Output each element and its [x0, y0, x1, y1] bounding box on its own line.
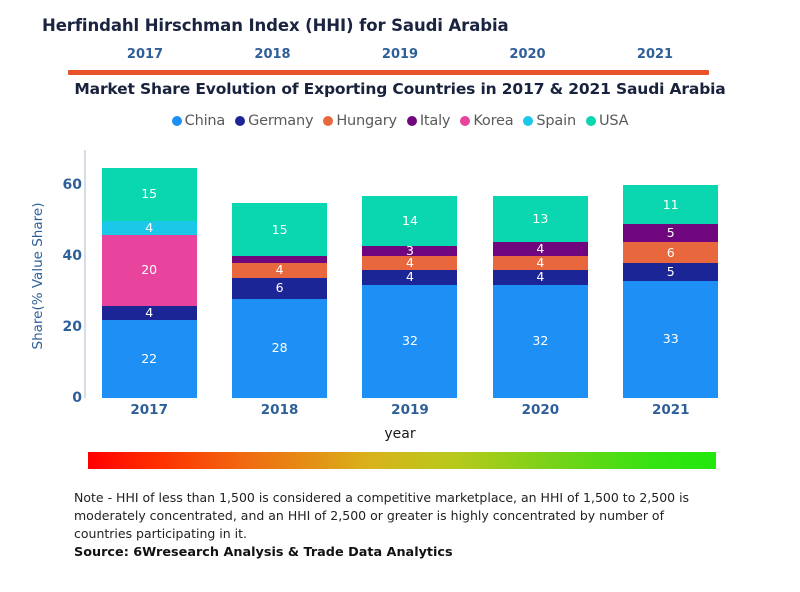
y-axis-tick-label: 20: [63, 319, 82, 335]
bar-segment[interactable]: 32: [362, 285, 457, 398]
legend-swatch-icon: [586, 116, 596, 126]
chart-legend: ChinaGermanyHungaryItalyKoreaSpainUSA: [0, 113, 800, 129]
bar-segment[interactable]: 4: [493, 242, 588, 256]
bar-column[interactable]: 154628: [232, 150, 327, 398]
footnote: Note - HHI of less than 1,500 is conside…: [74, 489, 726, 543]
legend-item-china[interactable]: China: [172, 113, 225, 129]
bar-column[interactable]: 15420422: [102, 150, 197, 398]
bar-segment-value: 4: [145, 222, 153, 235]
legend-item-spain[interactable]: Spain: [523, 113, 576, 129]
legend-item-label: Spain: [536, 113, 576, 129]
bar-segment-value: 32: [532, 335, 548, 348]
x-axis-tick-label: 2020: [493, 402, 588, 424]
plot-area: Share(% Value Share) 0204060 15420422154…: [0, 150, 800, 445]
bar-segment[interactable]: 6: [623, 242, 718, 263]
y-axis-tick-label: 0: [72, 390, 82, 406]
bar-segment-value: 6: [667, 247, 675, 260]
bar-segment-value: 33: [663, 333, 679, 346]
x-axis-tick-label: 2021: [623, 402, 718, 424]
orange-divider: [68, 70, 709, 75]
bar-segment[interactable]: 4: [493, 256, 588, 270]
bar-column[interactable]: 1156533: [623, 150, 718, 398]
concentration-gradient-bar: [88, 452, 716, 469]
bar-segment-value: 14: [402, 215, 418, 228]
bar-column[interactable]: 1434432: [362, 150, 457, 398]
bar-segment[interactable]: [232, 256, 327, 263]
bar-segment-value: 15: [272, 224, 288, 237]
bar-segment[interactable]: 22: [102, 320, 197, 398]
legend-item-label: China: [185, 113, 225, 129]
bar-segment[interactable]: 5: [623, 263, 718, 281]
bar-segment[interactable]: 4: [362, 256, 457, 270]
bar-segment[interactable]: 33: [623, 281, 718, 398]
bar-segment-value: 4: [145, 307, 153, 320]
bar-segment[interactable]: 15: [232, 203, 327, 256]
legend-swatch-icon: [235, 116, 245, 126]
bar-segment-value: 5: [667, 227, 675, 240]
legend-item-label: USA: [599, 113, 628, 129]
legend-item-germany[interactable]: Germany: [235, 113, 313, 129]
legend-item-hungary[interactable]: Hungary: [323, 113, 397, 129]
bar-segment[interactable]: 5: [623, 224, 718, 242]
chart-page: Herfindahl Hirschman Index (HHI) for Sau…: [0, 0, 800, 592]
source-line: Source: 6Wresearch Analysis & Trade Data…: [74, 545, 726, 560]
bar-segment-value: 4: [276, 264, 284, 277]
legend-item-korea[interactable]: Korea: [460, 113, 513, 129]
bar-segment[interactable]: 4: [102, 221, 197, 235]
bar-segment-value: 6: [276, 282, 284, 295]
legend-swatch-icon: [407, 116, 417, 126]
bar-segment[interactable]: 15: [102, 168, 197, 221]
legend-item-label: Korea: [473, 113, 513, 129]
timeline-year: 2017: [90, 47, 200, 62]
timeline-year: 2018: [218, 47, 328, 62]
y-axis-ticks: 0204060: [40, 150, 82, 398]
bar-segment-value: 4: [406, 271, 414, 284]
bar-segment-value: 4: [536, 257, 544, 270]
x-axis-label: year: [0, 426, 800, 442]
x-axis-tick-label: 2018: [232, 402, 327, 424]
bar-segment[interactable]: 3: [362, 246, 457, 257]
legend-item-label: Hungary: [336, 113, 397, 129]
timeline-year: 2020: [473, 47, 583, 62]
legend-swatch-icon: [172, 116, 182, 126]
bar-segment[interactable]: 4: [102, 306, 197, 320]
legend-item-italy[interactable]: Italy: [407, 113, 450, 129]
bar-segment-value: 4: [536, 243, 544, 256]
bar-segment-value: 13: [532, 213, 548, 226]
x-axis-ticks: 20172018201920202021: [84, 402, 736, 424]
bar-group: 15420422154628143443213444321156533: [84, 150, 736, 398]
y-axis-tick-label: 60: [63, 177, 82, 193]
bar-segment[interactable]: 14: [362, 196, 457, 246]
bar-segment-value: 15: [141, 188, 157, 201]
bar-segment[interactable]: 20: [102, 235, 197, 306]
legend-swatch-icon: [460, 116, 470, 126]
bar-segment-value: 28: [272, 342, 288, 355]
year-timeline: 20172018201920202021: [90, 44, 710, 64]
bar-segment-value: 11: [663, 199, 679, 212]
bar-segment[interactable]: 11: [623, 185, 718, 224]
bar-segment-value: 4: [536, 271, 544, 284]
bar-segment[interactable]: 28: [232, 299, 327, 398]
bar-segment-value: 4: [406, 257, 414, 270]
legend-item-label: Germany: [248, 113, 313, 129]
legend-swatch-icon: [323, 116, 333, 126]
bar-segment-value: 32: [402, 335, 418, 348]
bar-segment-value: 20: [141, 264, 157, 277]
bar-segment[interactable]: 6: [232, 278, 327, 299]
bar-segment-value: 5: [667, 266, 675, 279]
bar-column[interactable]: 1344432: [493, 150, 588, 398]
x-axis-tick-label: 2017: [102, 402, 197, 424]
y-axis-tick-label: 40: [63, 248, 82, 264]
bar-segment[interactable]: 4: [362, 270, 457, 284]
legend-item-usa[interactable]: USA: [586, 113, 628, 129]
timeline-year: 2021: [600, 47, 710, 62]
legend-item-label: Italy: [420, 113, 450, 129]
legend-swatch-icon: [523, 116, 533, 126]
chart-subtitle: Market Share Evolution of Exporting Coun…: [0, 80, 800, 98]
bar-segment-value: 22: [141, 353, 157, 366]
bar-segment[interactable]: 4: [493, 270, 588, 284]
bar-segment[interactable]: 13: [493, 196, 588, 242]
page-title: Herfindahl Hirschman Index (HHI) for Sau…: [42, 16, 509, 35]
timeline-year: 2019: [345, 47, 455, 62]
bar-segment[interactable]: 4: [232, 263, 327, 277]
bar-segment[interactable]: 32: [493, 285, 588, 398]
x-axis-tick-label: 2019: [362, 402, 457, 424]
